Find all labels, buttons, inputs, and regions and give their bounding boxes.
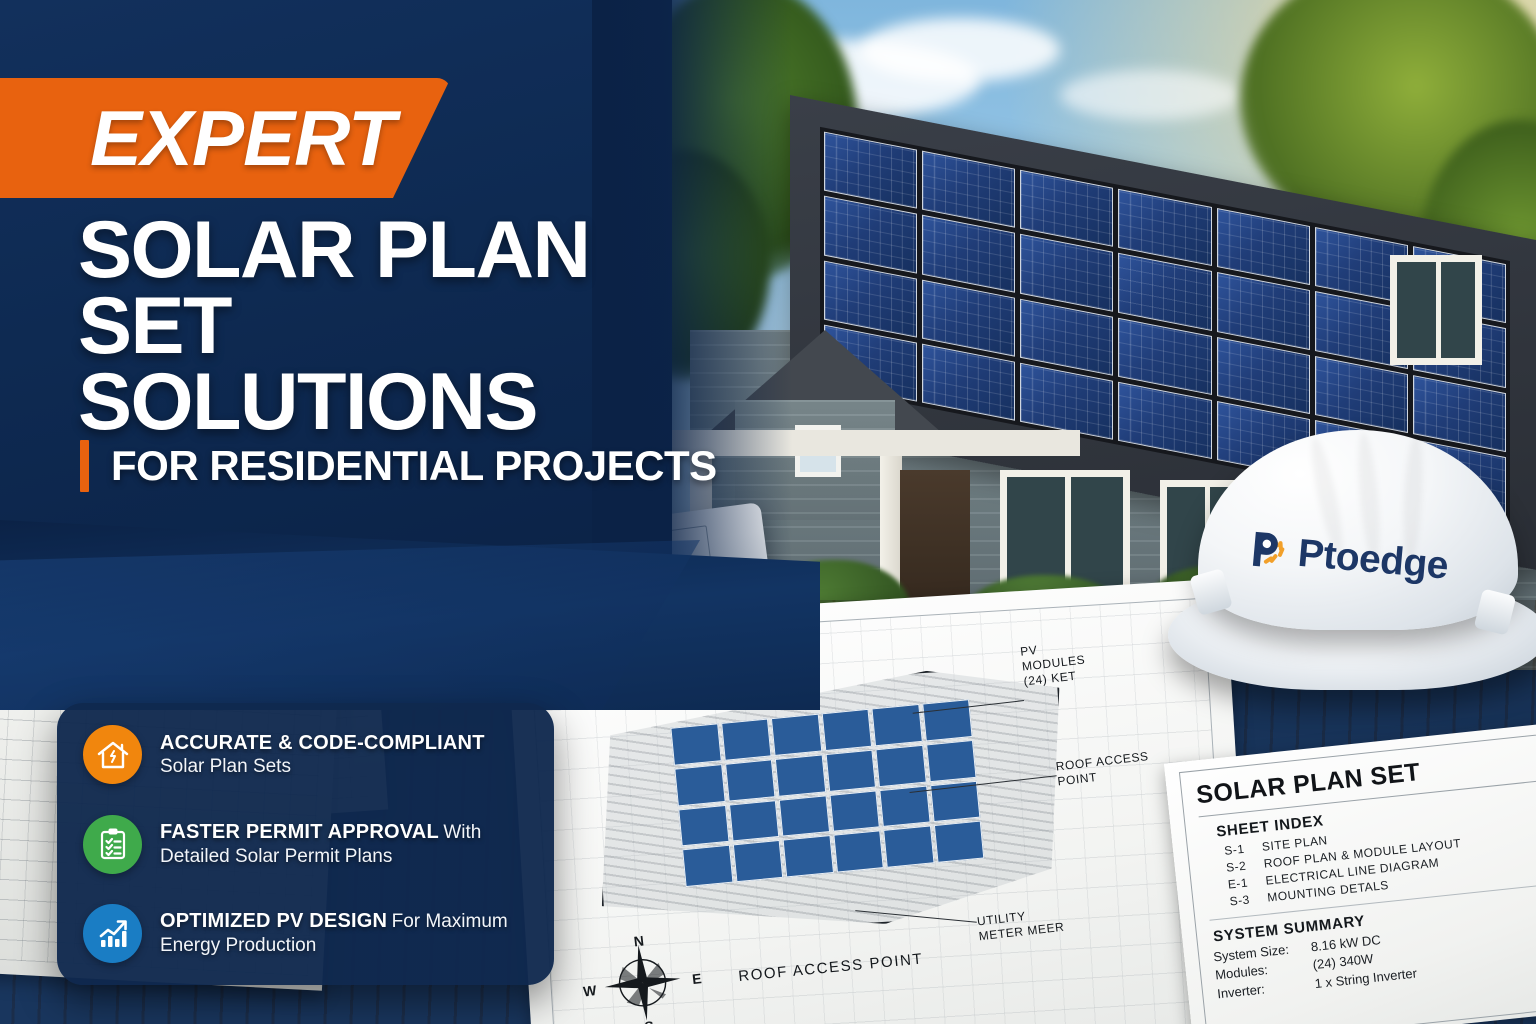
feature-title: OPTIMIZED PV DESIGN — [160, 910, 387, 932]
headline-line-2: SOLUTIONS — [78, 364, 758, 440]
feature-item: OPTIMIZED PV DESIGN For Maximum Energy P… — [83, 904, 528, 963]
hard-hat-dome — [1198, 430, 1518, 630]
annotation-pv-modules: PV MODULES (24) KET — [1020, 638, 1088, 690]
compass-east-label: E — [691, 970, 702, 987]
solar-plan-set-banner: PV MODULES (24) KET ROOF ACCESS POINT UT… — [0, 0, 1536, 1024]
feature-list-card: ACCURATE & CODE-COMPLIANT Solar Plan Set… — [57, 703, 554, 985]
clipboard-checklist-icon — [83, 815, 142, 874]
feature-title: FASTER PERMIT APPROVAL — [160, 821, 439, 843]
brand-name: Ptoedge — [1296, 533, 1449, 585]
feature-item: FASTER PERMIT APPROVAL With Detailed Sol… — [83, 815, 528, 874]
compass-south-label: S — [644, 1018, 655, 1024]
subheadline-row: FOR RESIDENTIAL PROJECTS — [80, 440, 717, 492]
compass-rose-icon: N S W E — [592, 932, 694, 1024]
growth-chart-icon — [83, 904, 142, 963]
feature-text: OPTIMIZED PV DESIGN For Maximum Energy P… — [160, 909, 528, 958]
feature-title: ACCURATE & CODE-COMPLIANT — [160, 732, 485, 754]
cloud — [860, 18, 1060, 82]
feature-text: ACCURATE & CODE-COMPLIANT Solar Plan Set… — [160, 731, 528, 779]
ptoedge-p-mark-icon — [1246, 525, 1296, 575]
blueprint-module-layout — [670, 699, 984, 887]
expert-badge-label: EXPERT — [90, 93, 395, 184]
spec-sheet: SOLAR PLAN SET SHEET INDEX S-1 SITE PLAN… — [1164, 722, 1536, 1024]
page-title: SOLAR PLAN SET SOLUTIONS — [78, 212, 758, 440]
compass-west-label: W — [582, 982, 597, 999]
expert-badge: EXPERT — [0, 78, 451, 198]
house-window — [1390, 255, 1482, 365]
accent-bar — [80, 440, 89, 492]
headline-line-1: SOLAR PLAN SET — [78, 212, 758, 364]
feature-text: FASTER PERMIT APPROVAL With Detailed Sol… — [160, 820, 528, 869]
compass-north-label: N — [633, 932, 645, 949]
feature-item: ACCURATE & CODE-COMPLIANT Solar Plan Set… — [83, 725, 528, 784]
sheet-code: S-3 — [1229, 890, 1265, 910]
subheadline: FOR RESIDENTIAL PROJECTS — [111, 442, 717, 490]
house-solar-icon — [83, 725, 142, 784]
cloud — [1060, 70, 1240, 120]
hard-hat: Ptoedge — [1168, 430, 1536, 695]
navy-drape — [0, 540, 700, 710]
feature-subtitle: Solar Plan Sets — [160, 756, 291, 777]
